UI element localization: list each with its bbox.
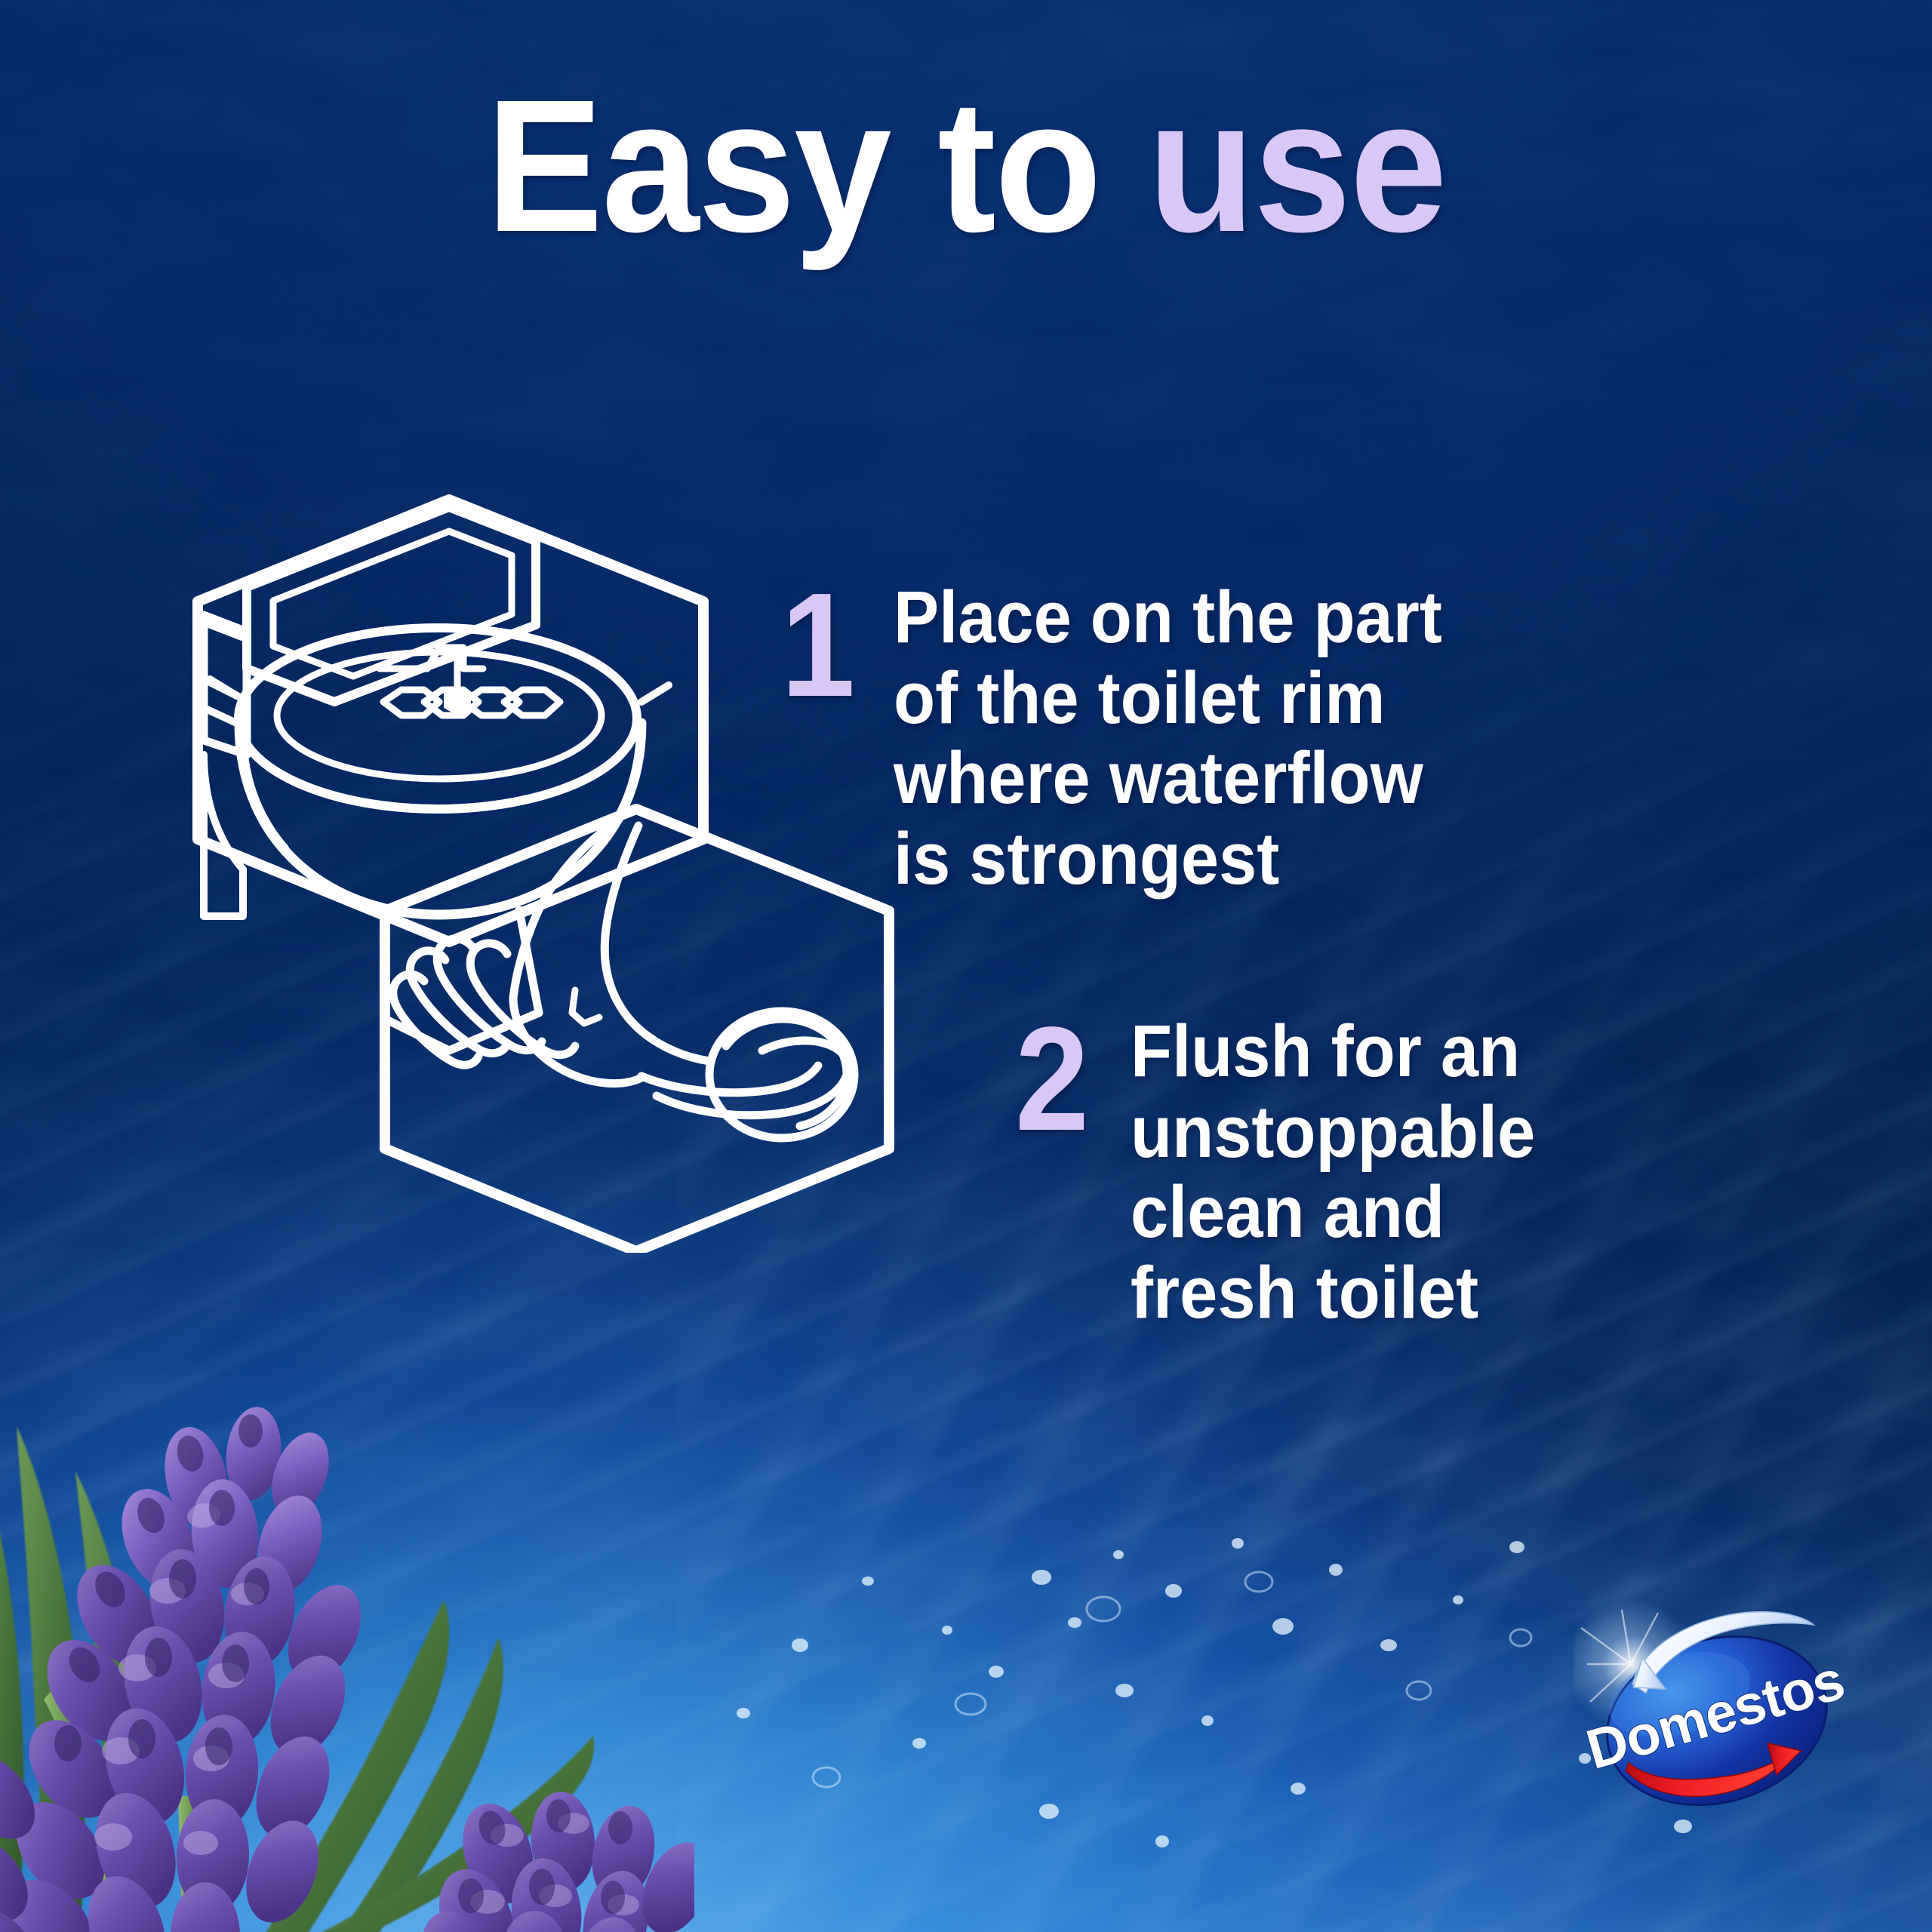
step-text-1: Place on the part of the toilet rim wher… bbox=[894, 577, 1442, 900]
poster-canvas: Easy to use bbox=[0, 0, 1932, 1932]
step-number-1: 1 bbox=[781, 577, 855, 713]
step-text-2: Flush for an unstoppable clean and fresh… bbox=[1131, 1011, 1535, 1334]
lavender-flowers-photo bbox=[0, 1313, 694, 1932]
step-item-1: 1 Place on the part of the toilet rim wh… bbox=[781, 577, 1484, 900]
domestos-logo[interactable]: Domestos bbox=[1574, 1596, 1860, 1845]
step-item-2: 2 Flush for an unstoppable clean and fre… bbox=[1015, 1011, 1566, 1334]
step-number-2: 2 bbox=[1015, 1011, 1089, 1147]
